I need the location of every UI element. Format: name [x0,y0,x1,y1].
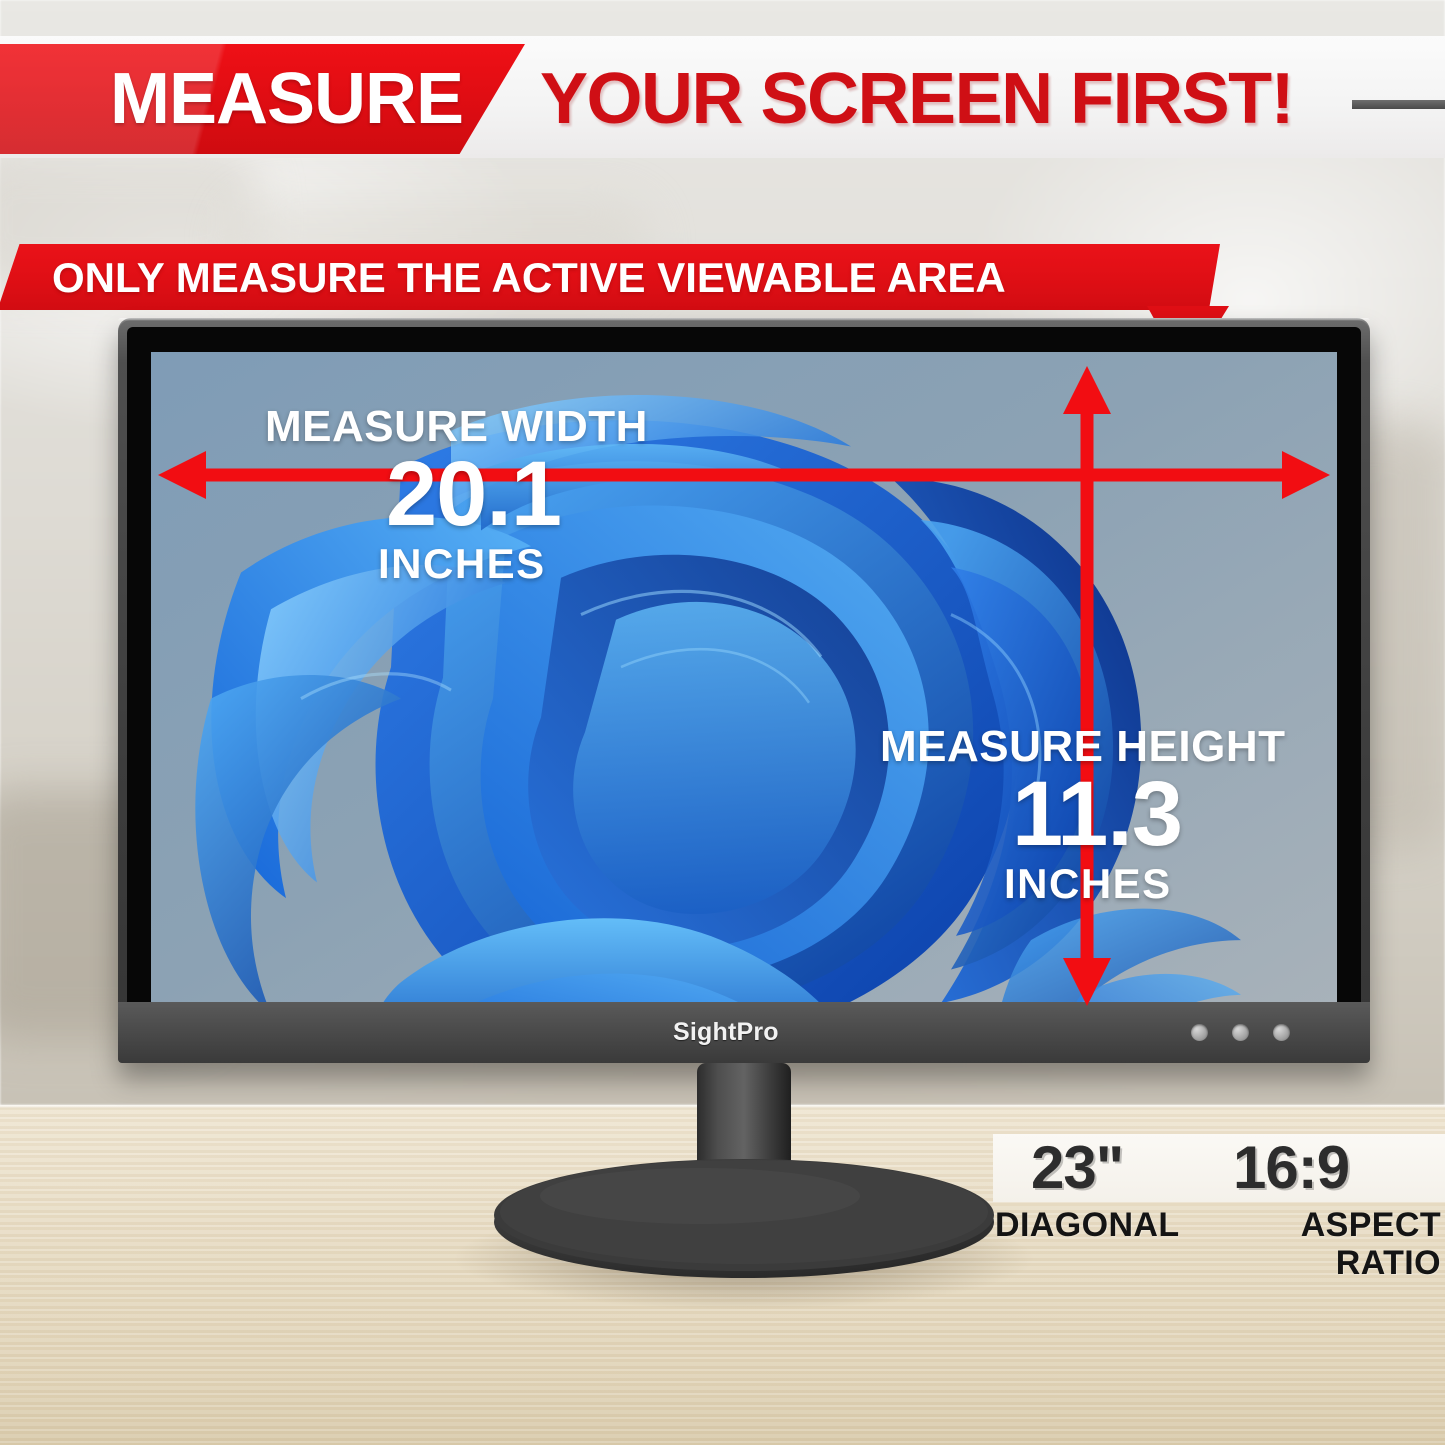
monitor-brand-label: SightPro [673,1018,779,1047]
monitor-screen: ENG DE 12:11 15/10/2021 3 [151,352,1337,1063]
measure-width-unit: INCHES [378,540,546,588]
header-badge-word: MEASURE [110,58,510,140]
aspect-label-line-2: RATIO [1225,1244,1441,1282]
poster-canvas: MEASURE YOUR SCREEN FIRST! ONLY MEASURE … [0,0,1445,1445]
aspect-value: 16:9 [1233,1138,1349,1198]
aspect-label-line-1: ASPECT [1225,1206,1441,1244]
aspect-label: ASPECT RATIO [1225,1206,1441,1282]
control-button-3[interactable] [1273,1024,1290,1041]
control-button-2[interactable] [1232,1024,1249,1041]
sub-banner-text: ONLY MEASURE THE ACTIVE VIEWABLE AREA [52,252,1006,304]
measure-height-value: 11.3 [1012,768,1182,860]
measure-height-unit: INCHES [1004,860,1172,908]
desktop-wallpaper [151,352,1337,1063]
measure-width-value: 20.1 [386,448,561,540]
header-rule-line [1352,100,1445,109]
control-button-1[interactable] [1191,1024,1208,1041]
diagonal-label: DIAGONAL [995,1206,1180,1244]
monitor-control-buttons[interactable] [1191,1024,1290,1041]
diagonal-value: 23" [1031,1138,1123,1198]
desk-edge [0,1105,1445,1109]
spec-badge: 23" 16:9 DIAGONAL ASPECT RATIO [993,1134,1445,1276]
monitor-chin: SightPro [118,1002,1370,1063]
header-headline: YOUR SCREEN FIRST! [540,58,1293,140]
